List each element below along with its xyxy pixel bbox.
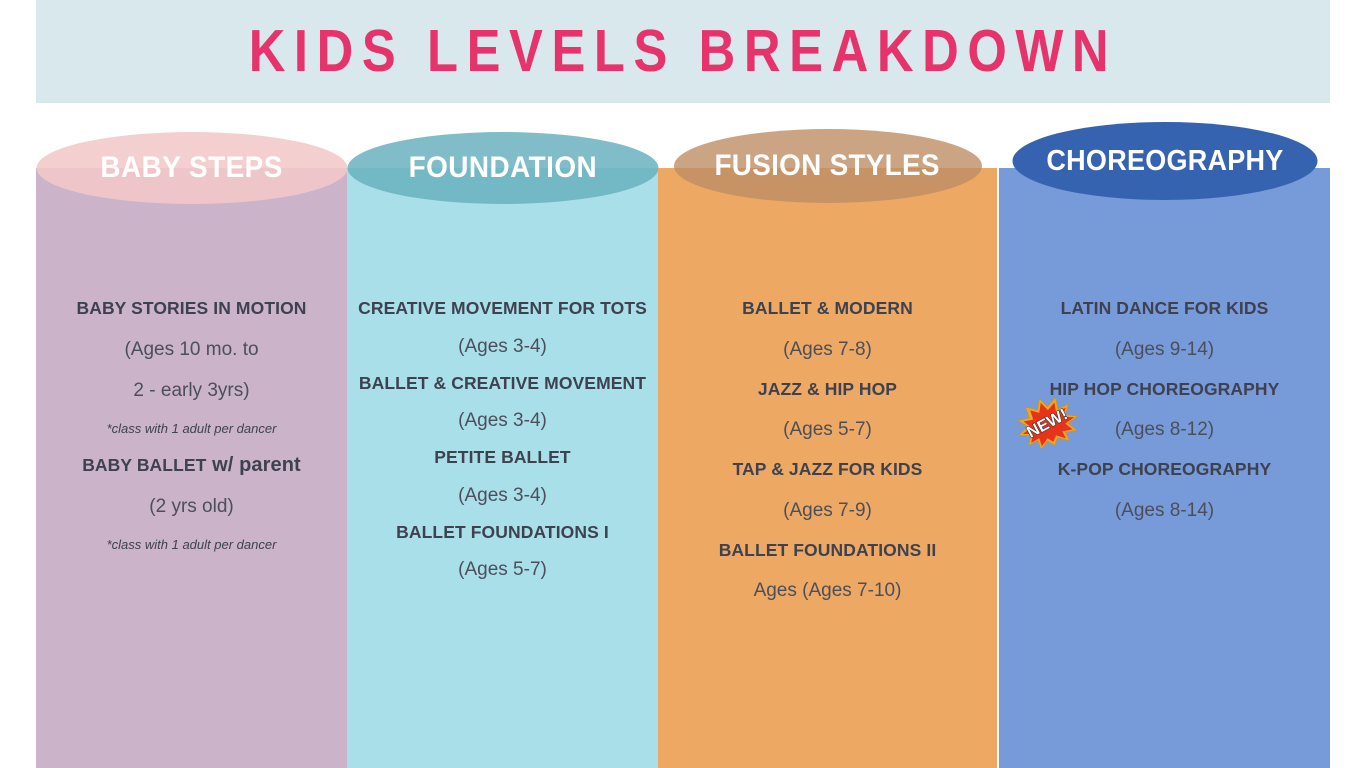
class-age: (Ages 9-14) [999,340,1330,359]
class-name: CREATIVE MOVEMENT FOR TOTS [347,300,658,318]
class-name: BALLET FOUNDATIONS II [658,542,997,560]
column-cap-label: CHOREOGRAPHY [1046,145,1283,178]
column-cap-foundation: FOUNDATION [347,132,658,204]
class-name-main: BABY BALLET [82,455,206,475]
class-name: BALLET & MODERN [658,300,997,318]
class-name-suffix: w/ parent [206,454,300,476]
column-cap-label: BABY STEPS [100,151,282,185]
class-age: (Ages 3-4) [347,486,658,505]
class-age: (Ages 5-7) [347,560,658,579]
class-age: (Ages 8-14) [999,501,1330,520]
class-age: (Ages 3-4) [347,337,658,356]
class-note: *class with 1 adult per dancer [36,422,347,435]
class-age: (Ages 3-4) [347,411,658,430]
column-content: BALLET & MODERN (Ages 7-8) JAZZ & HIP HO… [658,300,997,622]
class-name: PETITE BALLET [347,449,658,467]
class-name: BALLET FOUNDATIONS I [347,524,658,542]
infographic-canvas: KIDS LEVELS BREAKDOWN BABY STEPS BABY ST… [0,0,1366,768]
class-name: BABY BALLET w/ parent [36,455,347,475]
column-cap-fusion-styles: FUSION STYLES [674,129,982,203]
class-name: JAZZ & HIP HOP [658,381,997,399]
title-band: KIDS LEVELS BREAKDOWN [36,0,1330,103]
level-column-baby-steps: BABY STEPS BABY STORIES IN MOTION (Ages … [36,168,347,768]
column-cap-label: FOUNDATION [408,151,597,185]
column-cap-label: FUSION STYLES [715,149,940,183]
level-column-fusion-styles: FUSION STYLES BALLET & MODERN (Ages 7-8)… [658,168,997,768]
class-age-cont: 2 - early 3yrs) [36,381,347,400]
page-title: KIDS LEVELS BREAKDOWN [249,22,1117,81]
column-content: CREATIVE MOVEMENT FOR TOTS (Ages 3-4) BA… [347,300,658,598]
class-name: BALLET & CREATIVE MOVEMENT [347,375,658,393]
column-content: BABY STORIES IN MOTION (Ages 10 mo. to 2… [36,300,347,571]
class-age: Ages (Ages 7-10) [658,581,997,600]
class-age: (Ages 5-7) [658,420,997,439]
class-name: BABY STORIES IN MOTION [36,300,347,318]
class-age: (Ages 7-9) [658,501,997,520]
class-age: (Ages 10 mo. to [36,340,347,359]
class-name: LATIN DANCE FOR KIDS [999,300,1330,318]
column-cap-baby-steps: BABY STEPS [36,132,347,204]
level-column-foundation: FOUNDATION CREATIVE MOVEMENT FOR TOTS (A… [347,168,658,768]
new-badge-starburst-icon: NEW! [1014,396,1080,448]
class-name: TAP & JAZZ FOR KIDS [658,461,997,479]
class-age: (2 yrs old) [36,497,347,516]
class-name: K-POP CHOREOGRAPHY [999,461,1330,479]
class-age: (Ages 7-8) [658,340,997,359]
column-cap-choreography: CHOREOGRAPHY [1012,122,1317,200]
class-note: *class with 1 adult per dancer [36,538,347,551]
level-column-choreography: CHOREOGRAPHY LATIN DANCE FOR KIDS (Ages … [999,168,1330,768]
